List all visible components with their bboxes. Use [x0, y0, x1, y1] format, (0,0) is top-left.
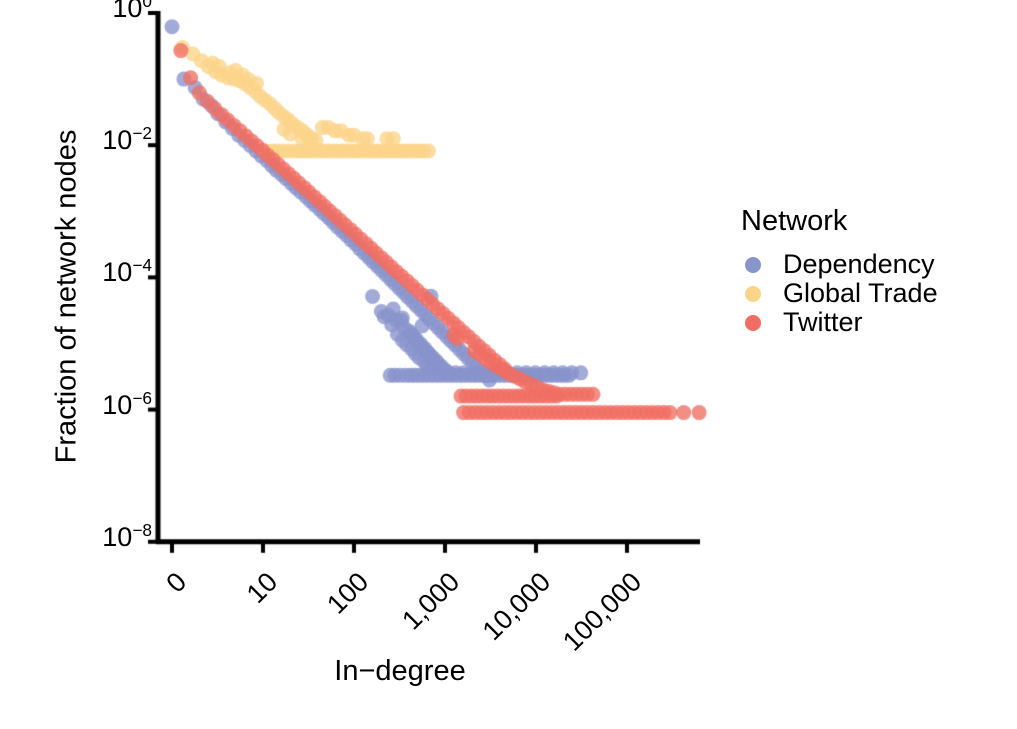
y-tick-mantissa: 10: [102, 390, 132, 420]
y-tick-mantissa: 10: [102, 125, 132, 155]
y-tick-label: 10−8: [16, 524, 152, 551]
legend-title: Network: [741, 205, 1008, 238]
legend-item-label: Twitter: [783, 307, 863, 338]
legend-item-dependency[interactable]: Dependency: [738, 250, 1008, 279]
scatter-plot-canvas: [0, 0, 1017, 709]
chart-figure: Fraction of network nodes In−degree 1001…: [0, 0, 1017, 709]
legend-item-label: Dependency: [783, 249, 935, 280]
legend-item-label: Global Trade: [783, 278, 938, 309]
y-axis-tick-labels: 10010−210−410−610−8: [0, 0, 152, 560]
y-tick-label: 10−4: [16, 259, 152, 286]
y-tick-mantissa: 10: [112, 0, 142, 23]
legend: Network DependencyGlobal TradeTwitter: [738, 205, 1008, 337]
y-tick-label: 10−6: [16, 392, 152, 419]
y-tick-exponent: −8: [132, 520, 152, 540]
y-tick-exponent: −4: [132, 255, 152, 275]
legend-swatch-icon: [745, 257, 761, 273]
legend-item-twitter[interactable]: Twitter: [738, 308, 1008, 337]
y-tick-label: 10−2: [16, 127, 152, 154]
x-axis-title: In−degree: [172, 655, 628, 688]
y-tick-exponent: −2: [132, 123, 152, 143]
y-tick-mantissa: 10: [102, 257, 132, 287]
legend-swatch-icon: [745, 286, 761, 302]
legend-items: DependencyGlobal TradeTwitter: [738, 250, 1008, 337]
y-tick-label: 100: [16, 0, 152, 22]
y-tick-exponent: 0: [142, 0, 152, 11]
legend-swatch-icon: [745, 315, 761, 331]
y-tick-exponent: −6: [132, 388, 152, 408]
legend-item-global-trade[interactable]: Global Trade: [738, 279, 1008, 308]
y-tick-mantissa: 10: [102, 522, 132, 552]
